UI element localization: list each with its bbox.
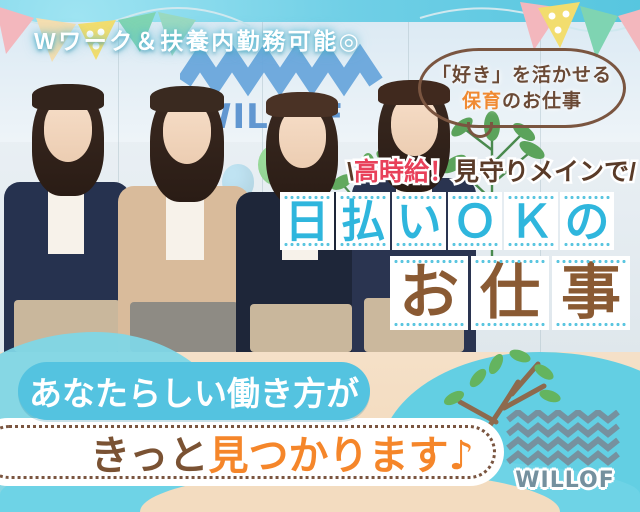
headline-card: お [390, 256, 468, 330]
headline-char: お [399, 263, 459, 323]
subhead-red: 高時給！ [354, 158, 454, 186]
headline-card: Ｏ [448, 192, 502, 250]
headline-card: い [392, 192, 446, 250]
headline-card: 仕 [471, 256, 549, 330]
headline-char: 払 [340, 199, 385, 244]
bubble-line-2-rest: のお仕事 [502, 91, 582, 112]
headline-char: 事 [561, 263, 621, 323]
headline-char: 日 [284, 199, 329, 244]
bottom-pill-text: あなたらしい働き方が [29, 367, 359, 415]
bottom-panel: きっと見つかります♪ [0, 418, 504, 486]
bubble-line-1: 「好き」を活かせる [432, 63, 612, 89]
speech-bubble: 「好き」を活かせる 保育のお仕事 [418, 48, 626, 128]
job-ad-banner: WILLOF [0, 0, 640, 512]
willof-wordmark: WILLOF [515, 468, 614, 493]
headline-card: 日 [280, 192, 334, 250]
headline-char: Ｋ [508, 199, 553, 244]
top-catch-copy: Wワーク＆扶養内勤務可能◎ [34, 22, 361, 56]
willof-chevron-icon [506, 410, 624, 466]
subhead-rest: 見守りメインで [454, 158, 629, 186]
willof-logo: WILLOF [504, 410, 626, 494]
slash-left: \ [347, 158, 354, 186]
bubble-highlight: 保育 [462, 91, 502, 112]
headline-char: 仕 [480, 263, 540, 323]
headline-row-1: 日 払 い Ｏ Ｋ の [280, 192, 616, 250]
headline-char: い [396, 199, 441, 244]
headline-card: 事 [552, 256, 630, 330]
headline-card: の [560, 192, 614, 250]
headline-card: Ｋ [504, 192, 558, 250]
headline-card: 払 [336, 192, 390, 250]
slash-right: / [629, 158, 636, 186]
headline-row-2: お 仕 事 [390, 256, 633, 330]
bubble-line-2: 保育のお仕事 [462, 89, 582, 115]
bottom-pill: あなたらしい働き方が [18, 362, 370, 420]
panel-text-orange: 見つかります♪ [208, 423, 474, 481]
sub-headline: \高時給！見守りメインで/ [347, 152, 636, 188]
panel-text-brown: きっと [90, 423, 208, 481]
headline-char: Ｏ [452, 199, 497, 244]
person-1 [4, 52, 130, 352]
headline-char: の [564, 199, 609, 244]
person-2 [118, 52, 250, 352]
